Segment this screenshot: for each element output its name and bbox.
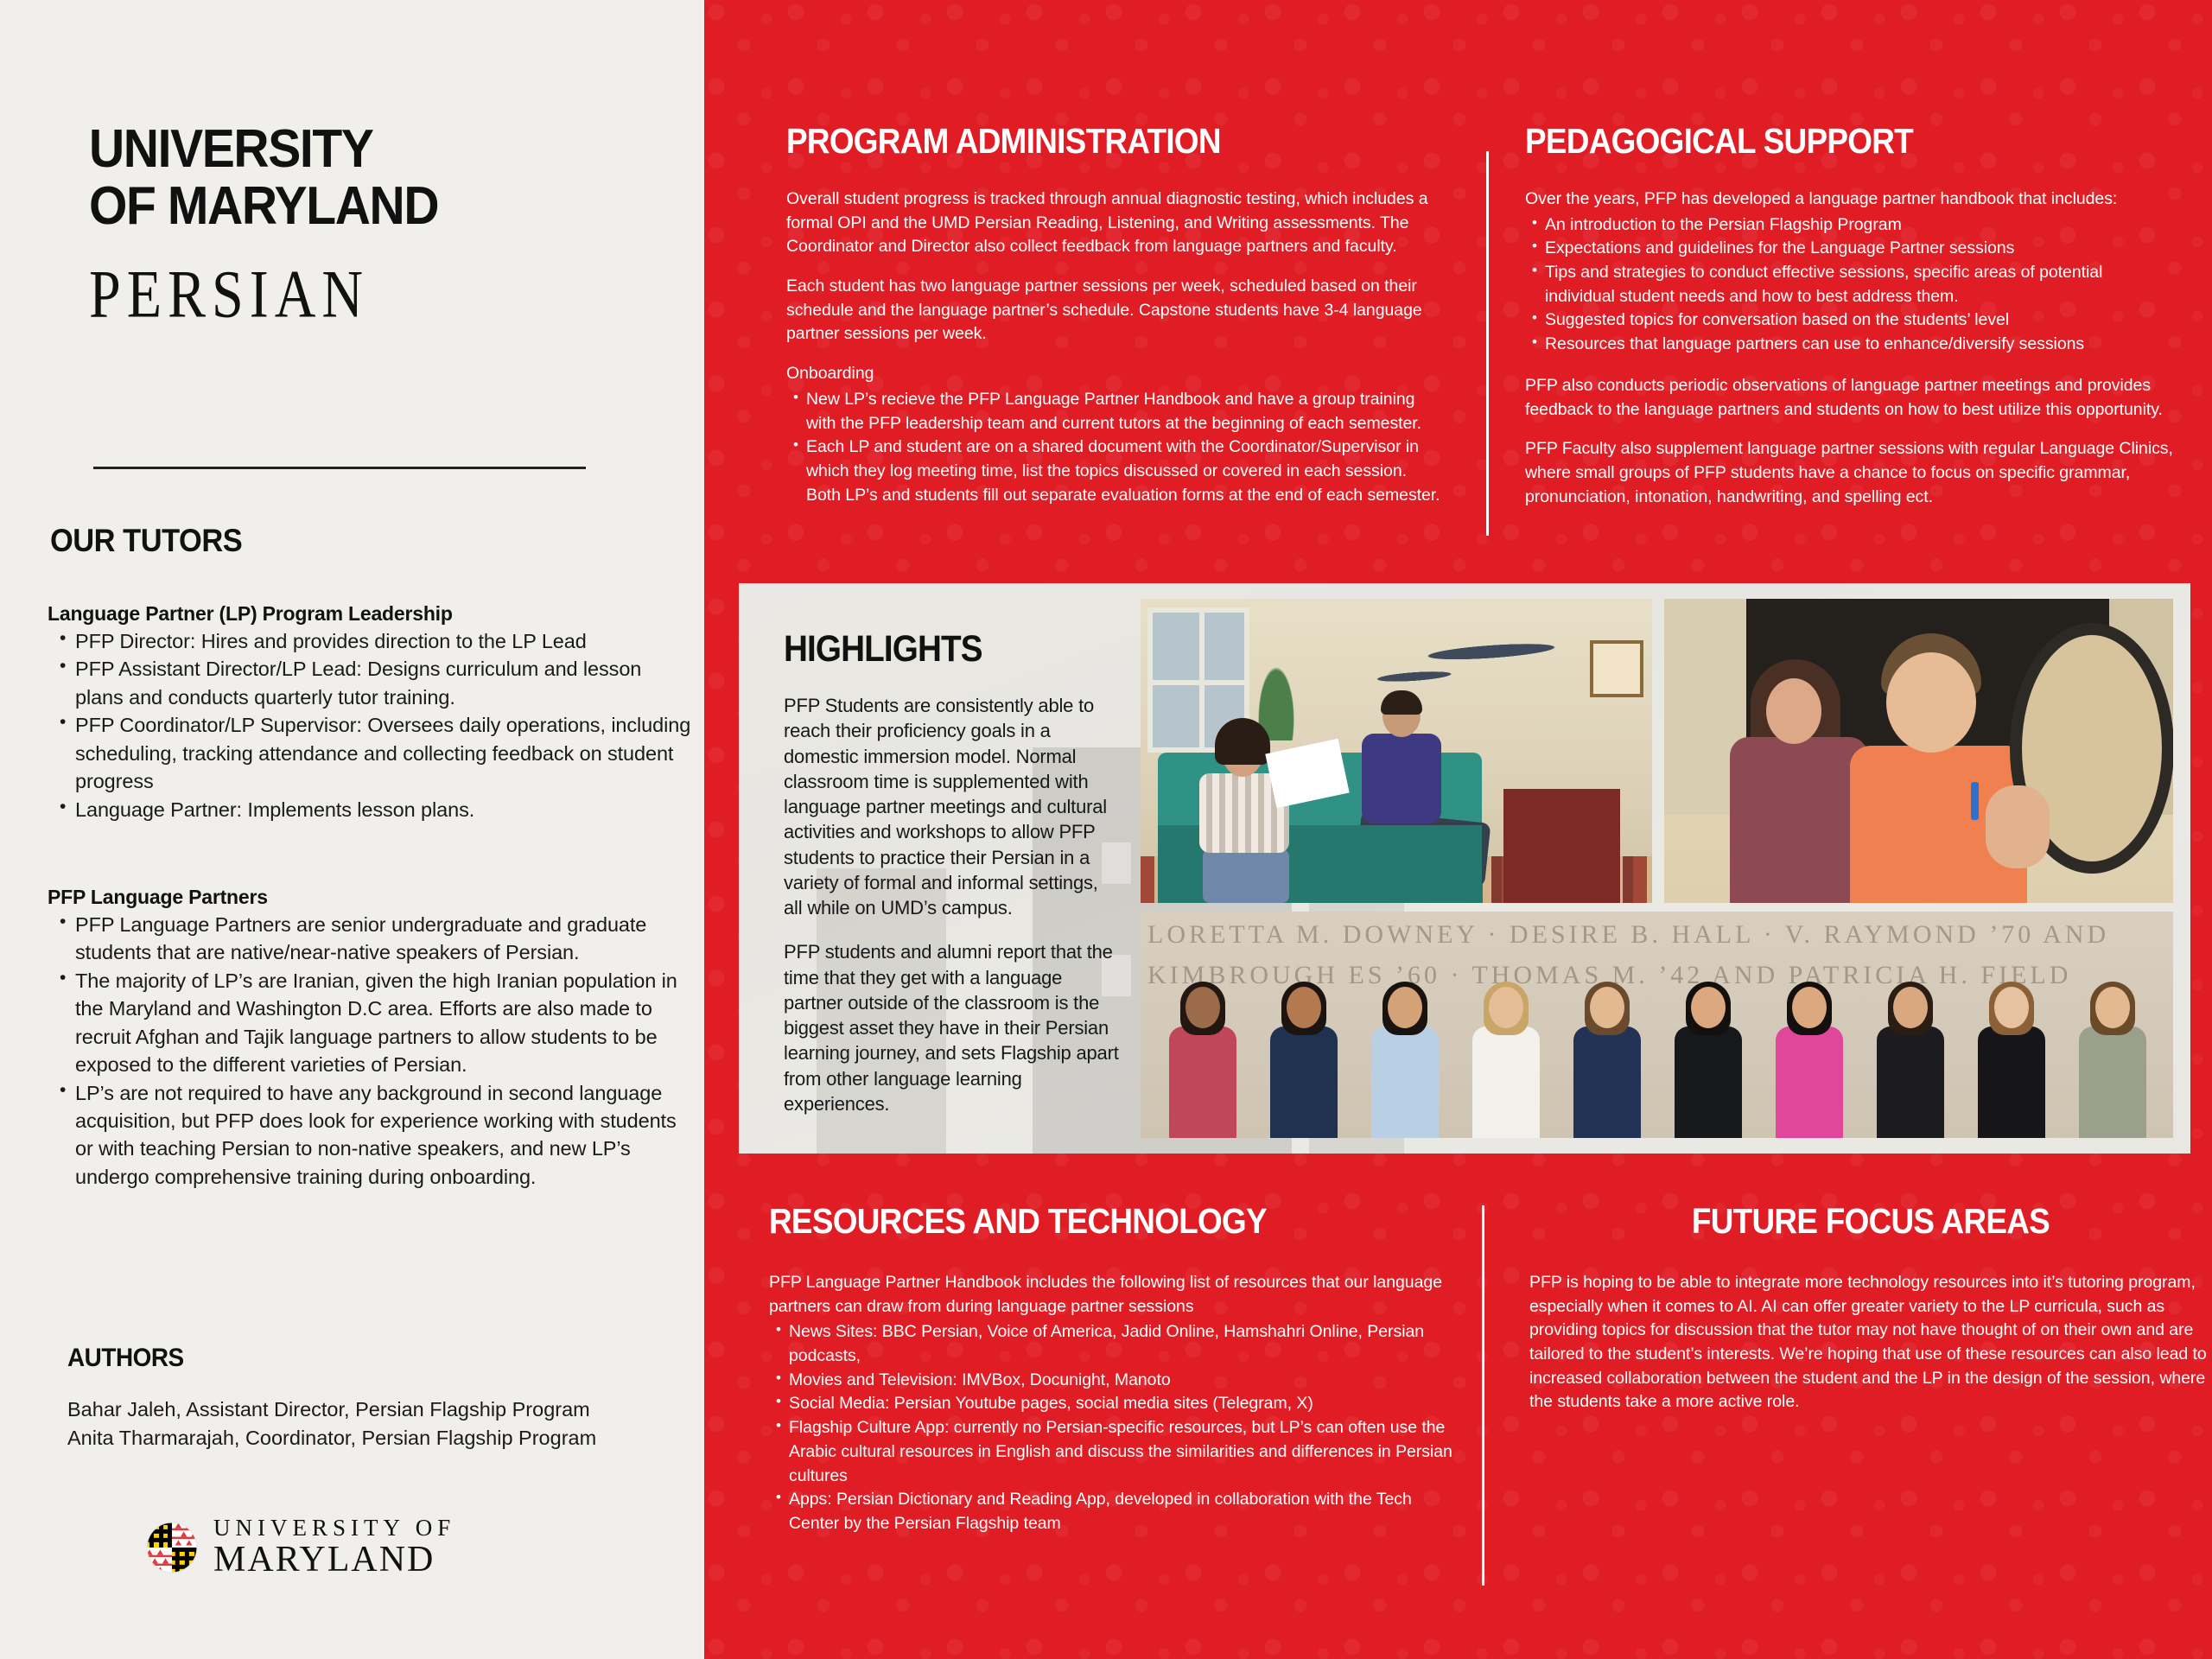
- group-of-people: [1156, 987, 2158, 1138]
- onboarding-label: Onboarding: [786, 362, 1443, 386]
- list-item: Flagship Culture App: currently no Persi…: [769, 1416, 1460, 1488]
- intro-paragraph: PFP Language Partner Handbook includes t…: [769, 1271, 1460, 1319]
- list-item: Expectations and guidelines for the Lang…: [1525, 237, 2173, 261]
- onboarding-list: New LP’s recieve the PFP Language Partne…: [786, 388, 1443, 507]
- person: [2066, 987, 2158, 1138]
- person: [1156, 987, 1249, 1138]
- list-item: PFP Assistant Director/LP Lead: Designs …: [48, 655, 691, 711]
- persian-calligraphy-wall-art: [1354, 607, 1584, 700]
- authors-list: Bahar Jaleh, Assistant Director, Persian…: [67, 1395, 707, 1453]
- picture-frame: [1590, 640, 1643, 697]
- resources-technology-heading: RESOURCES AND TECHNOLOGY: [769, 1201, 1391, 1242]
- author-entry: Bahar Jaleh, Assistant Director, Persian…: [67, 1395, 707, 1424]
- list-item: Apps: Persian Dictionary and Reading App…: [769, 1488, 1460, 1535]
- vertical-divider-top: [1486, 151, 1489, 536]
- pedagogical-support-body: Over the years, PFP has developed a lang…: [1525, 188, 2173, 509]
- resources-list: News Sites: BBC Persian, Voice of Americ…: [769, 1320, 1460, 1535]
- list-item: PFP Language Partners are senior undergr…: [48, 911, 691, 967]
- list-item: Each LP and student are on a shared docu…: [786, 435, 1443, 507]
- paragraph: Overall student progress is tracked thro…: [786, 188, 1443, 259]
- person: [1864, 987, 1956, 1138]
- our-tutors-section: OUR TUTORS: [50, 523, 690, 559]
- list-item: Tips and strategies to conduct effective…: [1525, 261, 2173, 308]
- vertical-divider-bottom: [1482, 1205, 1484, 1586]
- umd-logo: UNIVERSITY OF MARYLAND: [145, 1516, 455, 1578]
- paragraph: Each student has two language partner se…: [786, 275, 1443, 346]
- poster-subtitle: PERSIAN: [89, 257, 659, 334]
- title-line-1: UNIVERSITY: [89, 121, 613, 178]
- umd-logo-line-1: UNIVERSITY OF: [213, 1516, 455, 1540]
- list-item: Language Partner: Implements lesson plan…: [48, 796, 691, 823]
- paragraph: PFP also conducts periodic observations …: [1525, 374, 2173, 422]
- paragraph: PFP students and alumni report that the …: [784, 939, 1121, 1116]
- language-partners-block: PFP Language Partners PFP Language Partn…: [48, 886, 691, 1191]
- person: [1257, 987, 1350, 1138]
- person: [1459, 987, 1552, 1138]
- pedagogical-support-heading: PEDAGOGICAL SUPPORT: [1525, 121, 2108, 162]
- list-item: An introduction to the Persian Flagship …: [1525, 213, 2173, 238]
- resources-technology-body: PFP Language Partner Handbook includes t…: [769, 1271, 1460, 1536]
- list-item: Movies and Television: IMVBox, Docunight…: [769, 1369, 1460, 1393]
- photo-collage: LORETTA M. DOWNEY · DESIRE B. HALL · V. …: [1141, 599, 2173, 1138]
- person: [1763, 987, 1855, 1138]
- paragraph: PFP Students are consistently able to re…: [784, 693, 1121, 920]
- title-divider: [93, 467, 586, 469]
- our-tutors-heading: OUR TUTORS: [50, 523, 645, 559]
- poster-title-block: UNIVERSITY OF MARYLAND PERSIAN: [89, 121, 659, 322]
- authors-section: AUTHORS Bahar Jaleh, Assistant Director,…: [67, 1344, 707, 1453]
- future-focus-body: PFP is hoping to be able to integrate mo…: [1529, 1271, 2212, 1414]
- partners-subheading: PFP Language Partners: [48, 886, 691, 909]
- future-focus-heading: FUTURE FOCUS AREAS: [1564, 1201, 2178, 1242]
- person: [1358, 987, 1451, 1138]
- students-with-daf-drum-photo: [1664, 599, 2173, 903]
- list-item: The majority of LP’s are Iranian, given …: [48, 967, 691, 1079]
- list-item: Resources that language partners can use…: [1525, 333, 2173, 357]
- highlights-card: HIGHLIGHTS PFP Students are consistently…: [739, 583, 2190, 1154]
- future-focus-section: FUTURE FOCUS AREAS PFP is hoping to be a…: [1529, 1201, 2212, 1430]
- umd-logo-line-2: MARYLAND: [213, 1541, 455, 1578]
- umd-logo-text: UNIVERSITY OF MARYLAND: [213, 1516, 455, 1578]
- title-line-2: OF MARYLAND: [89, 178, 613, 235]
- list-item: News Sites: BBC Persian, Voice of Americ…: [769, 1320, 1460, 1368]
- handbook-contents-list: An introduction to the Persian Flagship …: [1525, 213, 2173, 357]
- program-administration-section: PROGRAM ADMINISTRATION Overall student p…: [786, 121, 1443, 507]
- pedagogical-support-section: PEDAGOGICAL SUPPORT Over the years, PFP …: [1525, 121, 2173, 524]
- paragraph: PFP Faculty also supplement language par…: [1525, 437, 2173, 509]
- student-and-tutor-session-photo: [1141, 599, 1652, 903]
- program-administration-heading: PROGRAM ADMINISTRATION: [786, 121, 1377, 162]
- leadership-list: PFP Director: Hires and provides directi…: [48, 627, 691, 823]
- list-item: LP’s are not required to have any backgr…: [48, 1079, 691, 1192]
- intro-paragraph: Over the years, PFP has developed a lang…: [1525, 188, 2173, 212]
- poster-root: UNIVERSITY OF MARYLAND PERSIAN OUR TUTOR…: [0, 0, 2212, 1659]
- persian-flagship-group-photo: LORETTA M. DOWNEY · DESIRE B. HALL · V. …: [1141, 912, 2173, 1138]
- list-item: Suggested topics for conversation based …: [1525, 308, 2173, 333]
- authors-heading: AUTHORS: [67, 1344, 662, 1373]
- person: [1662, 987, 1754, 1138]
- right-panel: PROGRAM ADMINISTRATION Overall student p…: [704, 0, 2212, 1659]
- highlights-heading: HIGHLIGHTS: [784, 628, 1087, 671]
- list-item: PFP Director: Hires and provides directi…: [48, 627, 691, 655]
- list-item: New LP’s recieve the PFP Language Partne…: [786, 388, 1443, 435]
- partners-list: PFP Language Partners are senior undergr…: [48, 911, 691, 1191]
- side-table: [1503, 789, 1620, 903]
- paragraph: PFP is hoping to be able to integrate mo…: [1529, 1271, 2212, 1414]
- program-administration-body: Overall student progress is tracked thro…: [786, 188, 1443, 507]
- maryland-flag-globe-icon: [145, 1521, 199, 1574]
- leadership-block: Language Partner (LP) Program Leadership…: [48, 602, 691, 823]
- highlights-text-block: HIGHLIGHTS PFP Students are consistently…: [784, 628, 1121, 1135]
- list-item: Social Media: Persian Youtube pages, soc…: [769, 1392, 1460, 1416]
- hand-holding-drum: [1986, 785, 2050, 868]
- resources-technology-section: RESOURCES AND TECHNOLOGY PFP Language Pa…: [769, 1201, 1460, 1536]
- leadership-subheading: Language Partner (LP) Program Leadership: [48, 602, 691, 626]
- list-item: PFP Coordinator/LP Supervisor: Oversees …: [48, 711, 691, 795]
- person: [1965, 987, 2057, 1138]
- author-entry: Anita Tharmarajah, Coordinator, Persian …: [67, 1424, 707, 1452]
- left-panel: UNIVERSITY OF MARYLAND PERSIAN OUR TUTOR…: [0, 0, 704, 1659]
- person: [1560, 987, 1653, 1138]
